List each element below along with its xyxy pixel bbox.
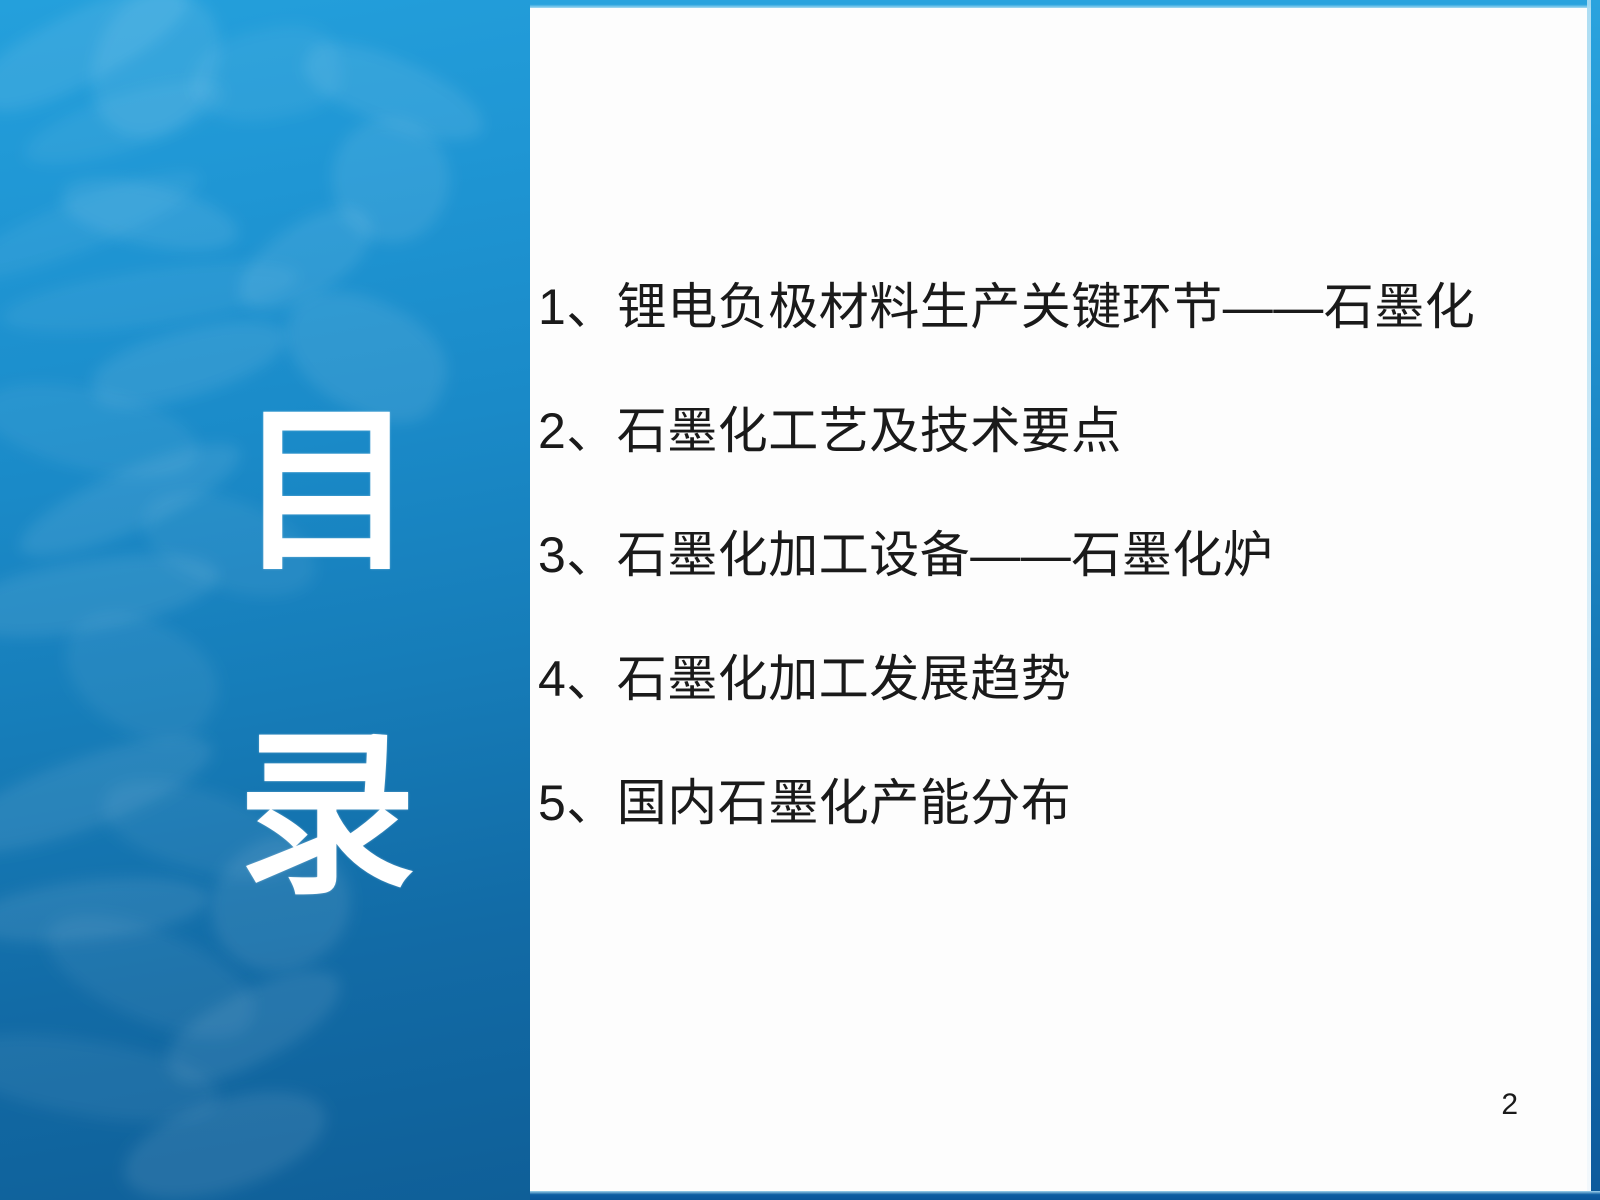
toc-item-1[interactable]: 1、锂电负极材料生产关键环节——石墨化 [538,282,1578,406]
frame-border-bottom [530,1191,1600,1200]
sidebar-panel: 目 录 [0,0,530,1200]
toc-title-char-1: 目 [232,330,422,654]
frame-border-top [530,0,1600,8]
toc-item-5[interactable]: 5、国内石墨化产能分布 [538,778,1578,902]
frame-border-right [1591,0,1600,1200]
content-panel: 1、锂电负极材料生产关键环节——石墨化 2、石墨化工艺及技术要点 3、石墨化加工… [530,0,1600,1200]
page-number: 2 [1501,1088,1518,1122]
toc-title-char-2: 录 [232,654,422,978]
toc-item-3[interactable]: 3、石墨化加工设备——石墨化炉 [538,530,1578,654]
toc-vertical-title: 目 录 [232,330,422,978]
presentation-slide: 目 录 1、锂电负极材料生产关键环节——石墨化 2、石墨化工艺及技术要点 3、石… [0,0,1600,1200]
toc-item-4[interactable]: 4、石墨化加工发展趋势 [538,654,1578,778]
toc-item-2[interactable]: 2、石墨化工艺及技术要点 [538,406,1578,530]
toc-list: 1、锂电负极材料生产关键环节——石墨化 2、石墨化工艺及技术要点 3、石墨化加工… [538,282,1578,902]
